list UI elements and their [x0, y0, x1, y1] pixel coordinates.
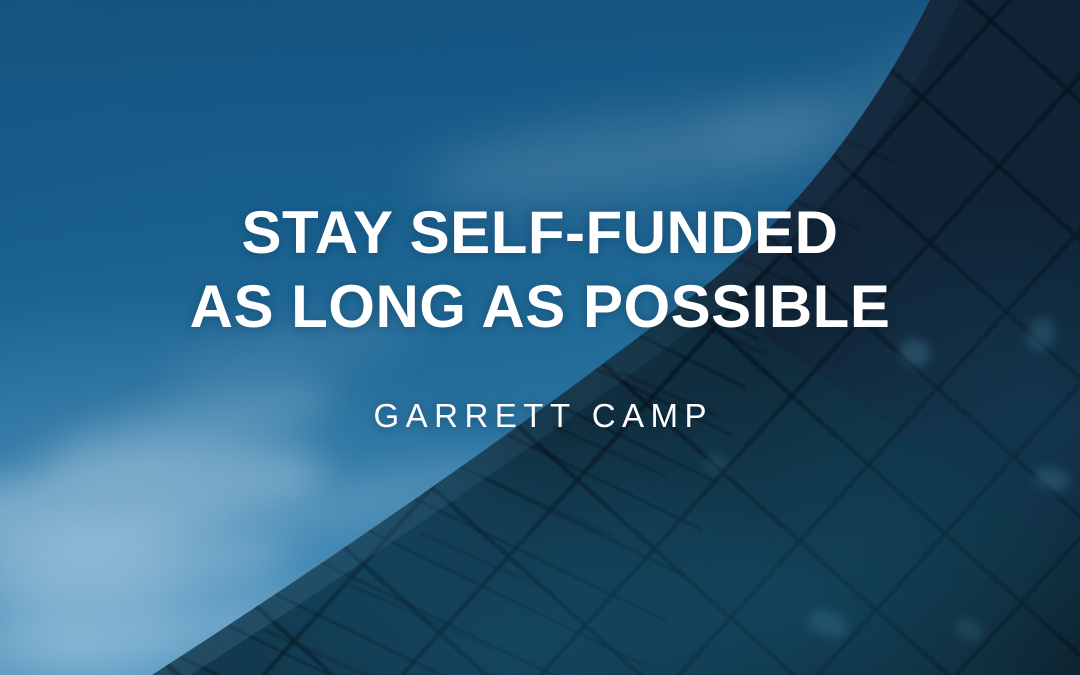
quote-card: STAY SELF-FUNDED AS LONG AS POSSIBLE GAR…: [0, 0, 1080, 675]
